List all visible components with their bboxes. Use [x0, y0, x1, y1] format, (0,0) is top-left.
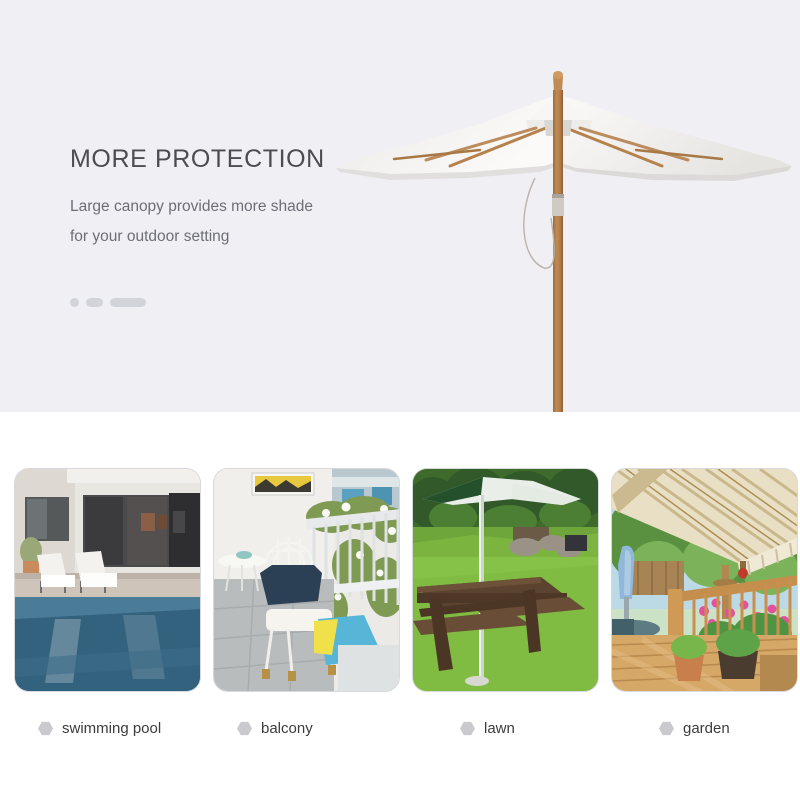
patio-umbrella-image — [330, 62, 800, 412]
caption-lawn[interactable]: lawn — [412, 720, 599, 737]
hexagon-bullet-icon — [659, 721, 674, 736]
gallery-captions: swimming pool balcony lawn garden — [14, 720, 798, 737]
carousel-pagination[interactable] — [70, 298, 146, 307]
hero-banner: MORE PROTECTION Large canopy provides mo… — [0, 0, 800, 412]
thumbnail-swimming-pool[interactable] — [14, 468, 201, 692]
caption-label: balcony — [261, 720, 313, 737]
thumbnail-lawn[interactable] — [412, 468, 599, 692]
pagination-dot-3-active[interactable] — [110, 298, 146, 307]
umbrella-canopy-right — [558, 94, 792, 175]
caption-label: swimming pool — [62, 720, 161, 737]
pagination-dot-1[interactable] — [70, 298, 79, 307]
caption-label: garden — [683, 720, 730, 737]
caption-garden[interactable]: garden — [611, 720, 798, 737]
hexagon-bullet-icon — [38, 721, 53, 736]
caption-balcony[interactable]: balcony — [213, 720, 400, 737]
caption-swimming-pool[interactable]: swimming pool — [14, 720, 201, 737]
umbrella-cord — [524, 178, 544, 268]
umbrella-canopy-left — [336, 94, 558, 174]
hexagon-bullet-icon — [237, 721, 252, 736]
caption-label: lawn — [484, 720, 515, 737]
hexagon-bullet-icon — [460, 721, 475, 736]
thumbnail-balcony[interactable] — [213, 468, 400, 692]
thumbnail-garden[interactable] — [611, 468, 798, 692]
pagination-dot-2[interactable] — [86, 298, 103, 307]
gallery-strip: swimming pool balcony lawn garden — [0, 412, 800, 800]
gallery-thumbnails — [14, 468, 798, 692]
